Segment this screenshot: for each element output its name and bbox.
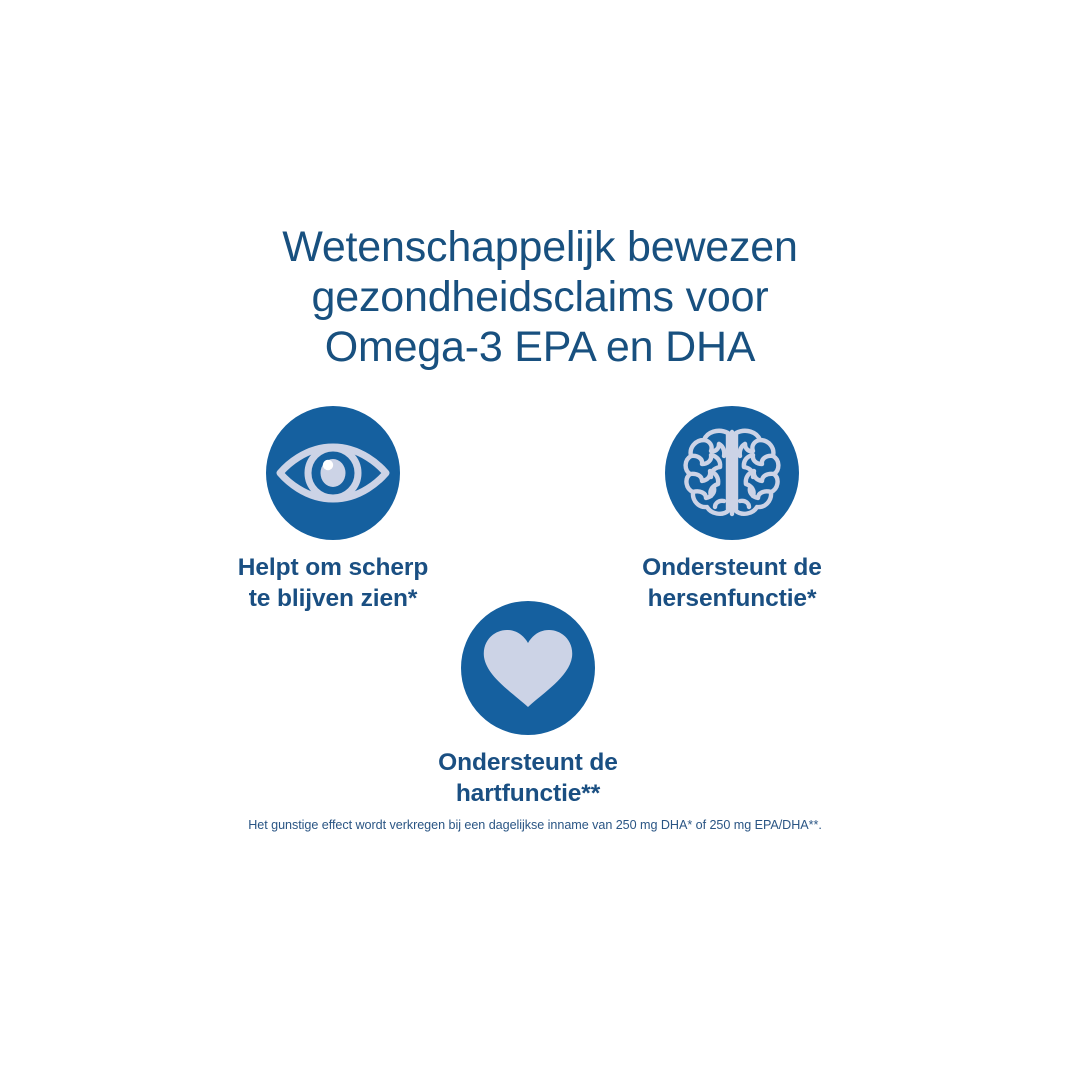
claim-label-heart: Ondersteunt de hartfunctie** xyxy=(388,747,668,809)
claim-label-heart-line-1: Ondersteunt de xyxy=(388,747,668,778)
title-line-1: Wetenschappelijk bewezen xyxy=(190,222,890,272)
brain-icon-badge xyxy=(665,406,799,540)
brain-icon xyxy=(665,406,799,540)
heart-icon xyxy=(461,601,595,735)
claim-item-vision: Helpt om scherp te blijven zien* xyxy=(193,406,473,614)
heart-icon-badge xyxy=(461,601,595,735)
eye-icon-badge xyxy=(266,406,400,540)
claim-item-brain: Ondersteunt de hersenfunctie* xyxy=(592,406,872,614)
title-line-3: Omega-3 EPA en DHA xyxy=(190,322,890,372)
title-line-2: gezondheidsclaims voor xyxy=(190,272,890,322)
claim-label-heart-line-2: hartfunctie** xyxy=(388,778,668,809)
claim-label-brain-line-1: Ondersteunt de xyxy=(592,552,872,583)
claim-label-vision-line-1: Helpt om scherp xyxy=(193,552,473,583)
footnote-text: Het gunstige effect wordt verkregen bij … xyxy=(90,816,980,834)
eye-icon xyxy=(266,406,400,540)
infographic-canvas: Wetenschappelijk bewezen gezondheidsclai… xyxy=(0,0,1080,1080)
page-title: Wetenschappelijk bewezen gezondheidsclai… xyxy=(190,222,890,372)
claim-item-heart: Ondersteunt de hartfunctie** xyxy=(388,601,668,809)
